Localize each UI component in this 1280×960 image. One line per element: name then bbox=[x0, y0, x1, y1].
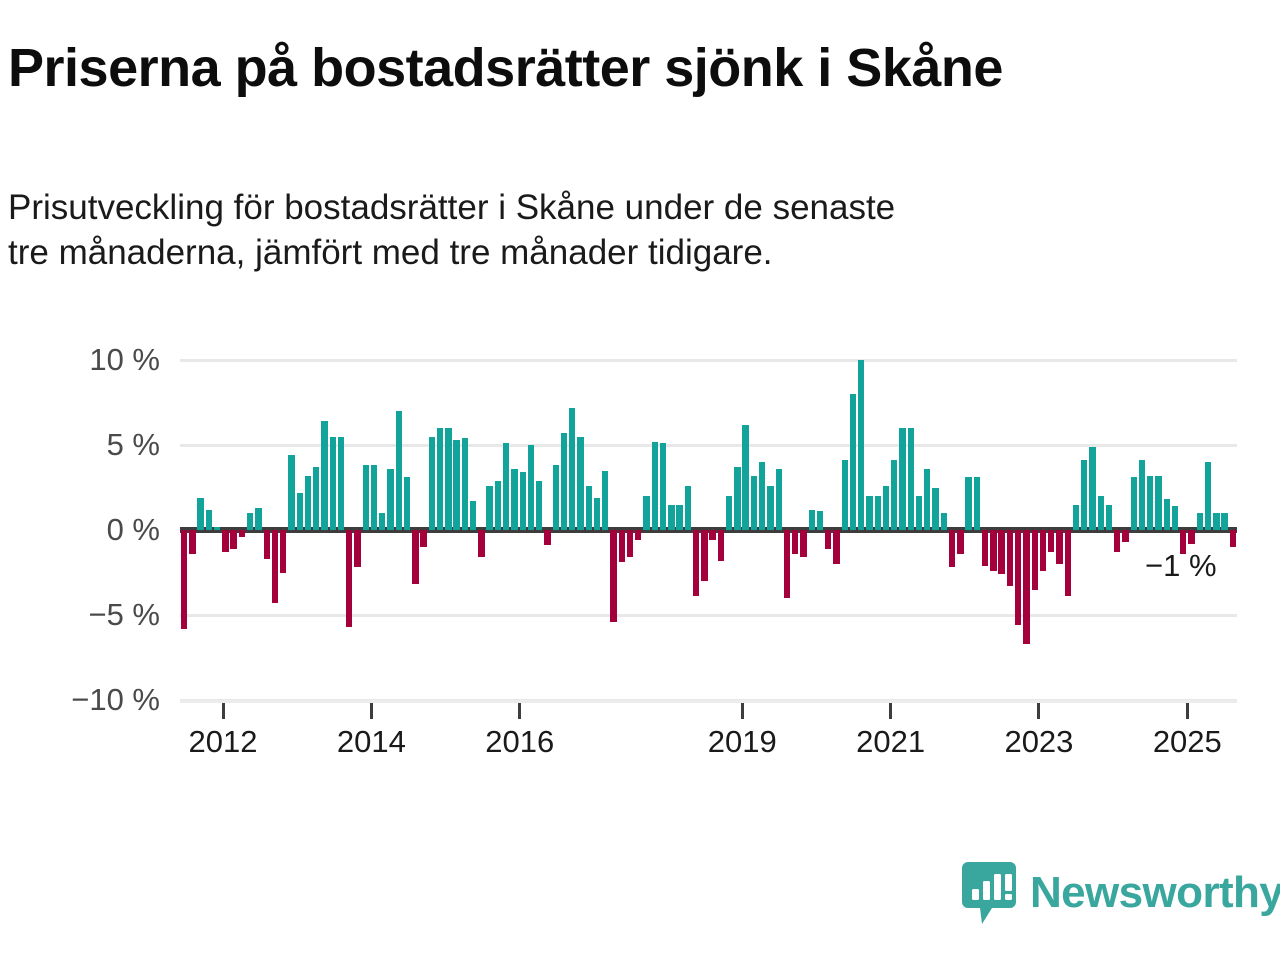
x-axis-tick bbox=[1037, 703, 1040, 719]
bar bbox=[528, 445, 534, 530]
bar bbox=[437, 428, 443, 530]
x-axis-label: 2019 bbox=[708, 724, 777, 760]
bar bbox=[189, 530, 195, 554]
bar bbox=[420, 530, 426, 547]
bar bbox=[1106, 505, 1112, 531]
bar bbox=[470, 501, 476, 530]
bar bbox=[338, 437, 344, 531]
x-axis-tick bbox=[741, 703, 744, 719]
bar bbox=[742, 425, 748, 530]
page-subtitle: Prisutveckling för bostadsrätter i Skåne… bbox=[8, 186, 1268, 276]
bar bbox=[511, 469, 517, 530]
bar bbox=[668, 505, 674, 531]
bar bbox=[1197, 513, 1203, 530]
bar bbox=[1073, 505, 1079, 531]
x-axis-tick bbox=[1186, 703, 1189, 719]
bar bbox=[1213, 513, 1219, 530]
bar bbox=[875, 496, 881, 530]
bar bbox=[701, 530, 707, 581]
bar bbox=[817, 511, 823, 530]
bar bbox=[627, 530, 633, 557]
bar bbox=[792, 530, 798, 554]
bar bbox=[313, 467, 319, 530]
bar bbox=[1147, 476, 1153, 530]
bar bbox=[660, 443, 666, 530]
bar bbox=[288, 455, 294, 530]
bar bbox=[586, 486, 592, 530]
bar bbox=[445, 428, 451, 530]
bar bbox=[833, 530, 839, 564]
bar bbox=[643, 496, 649, 530]
bar bbox=[693, 530, 699, 596]
bar bbox=[842, 460, 848, 530]
bar bbox=[222, 530, 228, 552]
bar bbox=[965, 477, 971, 530]
bar bbox=[478, 530, 484, 557]
bar bbox=[206, 510, 212, 530]
bar bbox=[280, 530, 286, 573]
subtitle-line-1: Prisutveckling för bostadsrätter i Skåne… bbox=[8, 186, 1268, 231]
bar bbox=[387, 469, 393, 530]
bar bbox=[363, 465, 369, 530]
chart-page: Priserna på bostadsrätter sjönk i Skåne … bbox=[0, 0, 1280, 960]
bar bbox=[1023, 530, 1029, 644]
bar bbox=[1032, 530, 1038, 590]
y-axis-labels: 10 %5 %0 %−5 %−10 % bbox=[0, 360, 160, 700]
bar bbox=[891, 460, 897, 530]
bar bbox=[503, 443, 509, 530]
bar bbox=[594, 498, 600, 530]
bar bbox=[371, 465, 377, 530]
bar bbox=[305, 476, 311, 530]
x-axis-label: 2021 bbox=[856, 724, 925, 760]
bar bbox=[990, 530, 996, 571]
bar bbox=[321, 421, 327, 530]
bar bbox=[561, 433, 567, 530]
bar bbox=[297, 493, 303, 530]
bar bbox=[495, 481, 501, 530]
bar bbox=[239, 530, 245, 537]
y-axis-label: 10 % bbox=[0, 342, 160, 378]
bar bbox=[809, 510, 815, 530]
bar bbox=[1040, 530, 1046, 571]
bar bbox=[1089, 447, 1095, 530]
bar bbox=[1188, 530, 1194, 544]
bar bbox=[429, 437, 435, 531]
bar bbox=[676, 505, 682, 531]
bar bbox=[396, 411, 402, 530]
bar bbox=[569, 408, 575, 530]
bar-chart-speech-bubble-icon bbox=[962, 862, 1016, 924]
bar bbox=[916, 496, 922, 530]
bar bbox=[932, 488, 938, 531]
bar bbox=[718, 530, 724, 561]
bar bbox=[1139, 460, 1145, 530]
bar bbox=[1131, 477, 1137, 530]
bar bbox=[635, 530, 641, 540]
bar bbox=[1221, 513, 1227, 530]
plot-area bbox=[180, 360, 1237, 700]
bar bbox=[982, 530, 988, 566]
bar bbox=[214, 527, 220, 530]
x-axis-ticks bbox=[180, 703, 1237, 719]
bar bbox=[255, 508, 261, 530]
bar bbox=[908, 428, 914, 530]
bar bbox=[1056, 530, 1062, 564]
x-axis-tick bbox=[889, 703, 892, 719]
bar bbox=[602, 471, 608, 531]
bar bbox=[1007, 530, 1013, 586]
x-axis-label: 2012 bbox=[189, 724, 258, 760]
bar bbox=[330, 437, 336, 531]
bar bbox=[800, 530, 806, 557]
bar bbox=[230, 530, 236, 549]
bar bbox=[957, 530, 963, 554]
bar bbox=[949, 530, 955, 567]
bar bbox=[412, 530, 418, 584]
bar bbox=[462, 438, 468, 530]
bar bbox=[726, 496, 732, 530]
bar bbox=[1230, 530, 1236, 547]
bar bbox=[197, 498, 203, 530]
x-axis-tick bbox=[222, 703, 225, 719]
bar bbox=[883, 486, 889, 530]
bar bbox=[734, 467, 740, 530]
bar bbox=[610, 530, 616, 622]
x-axis-labels: 2012201420162019202120232025 bbox=[180, 724, 1237, 770]
bar bbox=[776, 469, 782, 530]
bar bbox=[553, 465, 559, 530]
bar bbox=[899, 428, 905, 530]
bar bbox=[453, 440, 459, 530]
bar bbox=[181, 530, 187, 629]
bar bbox=[998, 530, 1004, 574]
bar bbox=[1122, 530, 1128, 542]
brand-name: Newsworthy bbox=[1030, 871, 1280, 915]
bar bbox=[577, 437, 583, 531]
bar bbox=[1155, 476, 1161, 530]
bar bbox=[1081, 460, 1087, 530]
bar bbox=[264, 530, 270, 559]
x-axis-tick bbox=[518, 703, 521, 719]
x-axis-tick bbox=[370, 703, 373, 719]
bar bbox=[652, 442, 658, 530]
y-axis-label: 0 % bbox=[0, 512, 160, 548]
bar bbox=[941, 513, 947, 530]
subtitle-line-2: tre månaderna, jämfört med tre månader t… bbox=[8, 231, 1268, 276]
bar bbox=[767, 486, 773, 530]
bar bbox=[1205, 462, 1211, 530]
bar bbox=[850, 394, 856, 530]
bar bbox=[346, 530, 352, 627]
y-axis-label: 5 % bbox=[0, 427, 160, 463]
bar bbox=[685, 486, 691, 530]
bar bbox=[354, 530, 360, 567]
y-axis-label: −5 % bbox=[0, 597, 160, 633]
x-axis-label: 2025 bbox=[1153, 724, 1222, 760]
bar bbox=[272, 530, 278, 603]
bar bbox=[1015, 530, 1021, 625]
bar bbox=[1164, 499, 1170, 530]
bar bbox=[825, 530, 831, 549]
bar bbox=[404, 477, 410, 530]
newsworthy-logo: Newsworthy bbox=[962, 862, 1280, 924]
x-axis-label: 2014 bbox=[337, 724, 406, 760]
bar bbox=[1065, 530, 1071, 596]
x-axis-label: 2016 bbox=[485, 724, 554, 760]
bar bbox=[1172, 506, 1178, 530]
bar bbox=[974, 477, 980, 530]
bar bbox=[866, 496, 872, 530]
page-title: Priserna på bostadsrätter sjönk i Skåne bbox=[8, 40, 1003, 97]
bar bbox=[520, 472, 526, 530]
bar bbox=[619, 530, 625, 562]
bar-series bbox=[180, 360, 1237, 700]
last-value-annotation: −1 % bbox=[1145, 548, 1217, 584]
bar bbox=[544, 530, 550, 545]
bar bbox=[751, 476, 757, 530]
bar bbox=[1114, 530, 1120, 552]
bar bbox=[536, 481, 542, 530]
bar-chart: 10 %5 %0 %−5 %−10 % 20122014201620192021… bbox=[0, 360, 1280, 760]
bar bbox=[1048, 530, 1054, 552]
y-axis-label: −10 % bbox=[0, 682, 160, 718]
bar bbox=[784, 530, 790, 598]
x-axis-label: 2023 bbox=[1004, 724, 1073, 760]
bar bbox=[858, 360, 864, 530]
bar bbox=[1098, 496, 1104, 530]
bar bbox=[759, 462, 765, 530]
bar bbox=[379, 513, 385, 530]
bar bbox=[709, 530, 715, 540]
bar bbox=[924, 469, 930, 530]
bar bbox=[247, 513, 253, 530]
bar bbox=[486, 486, 492, 530]
